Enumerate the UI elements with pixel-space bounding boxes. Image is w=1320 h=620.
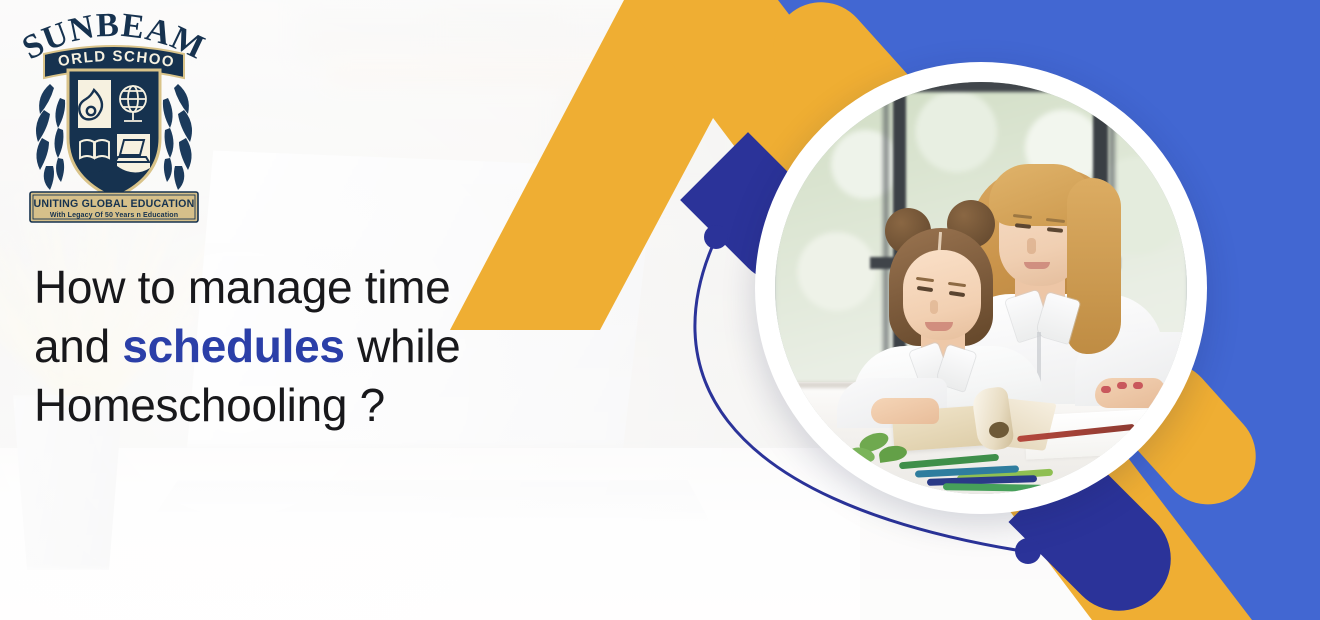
logo-tagline: UNITING GLOBAL EDUCATION <box>34 198 195 210</box>
headline-line-1: How to manage time <box>34 258 594 317</box>
navy-dot-bottom <box>1015 538 1041 564</box>
woman-fingernail-3 <box>1133 382 1143 389</box>
headline-line-2-after: while <box>345 320 461 372</box>
logo-legacy-line: With Legacy Of 50 Years n Education <box>50 211 178 219</box>
logo-laurel-right <box>163 84 192 190</box>
navy-dot-top <box>704 225 728 249</box>
circular-photo <box>775 82 1187 494</box>
girl-nose <box>930 300 938 314</box>
blog-banner: SUNBEAM WORLD SCHOOL <box>0 0 1320 620</box>
page-title: How to manage time and schedules while H… <box>34 258 594 435</box>
headline-line-3: Homeschooling ? <box>34 376 594 435</box>
girl-hand <box>871 398 939 424</box>
woman-fingernail-1 <box>1101 386 1111 393</box>
circular-photo-frame <box>755 62 1207 514</box>
woman-fingernail-2 <box>1117 382 1127 389</box>
school-logo-svg: SUNBEAM WORLD SCHOOL <box>14 6 214 228</box>
logo-quadrant-flame <box>78 80 111 128</box>
woman-mouth <box>1024 262 1050 269</box>
woman-hair-side <box>1067 178 1121 354</box>
woman-nose <box>1027 238 1036 254</box>
headline-accent-word: schedules <box>122 320 344 372</box>
headline-line-2: and schedules while <box>34 317 594 376</box>
woman-hand <box>1095 378 1165 408</box>
headline-line-2-before: and <box>34 320 122 372</box>
school-logo[interactable]: SUNBEAM WORLD SCHOOL <box>14 6 214 228</box>
logo-laurel-left <box>36 84 65 190</box>
